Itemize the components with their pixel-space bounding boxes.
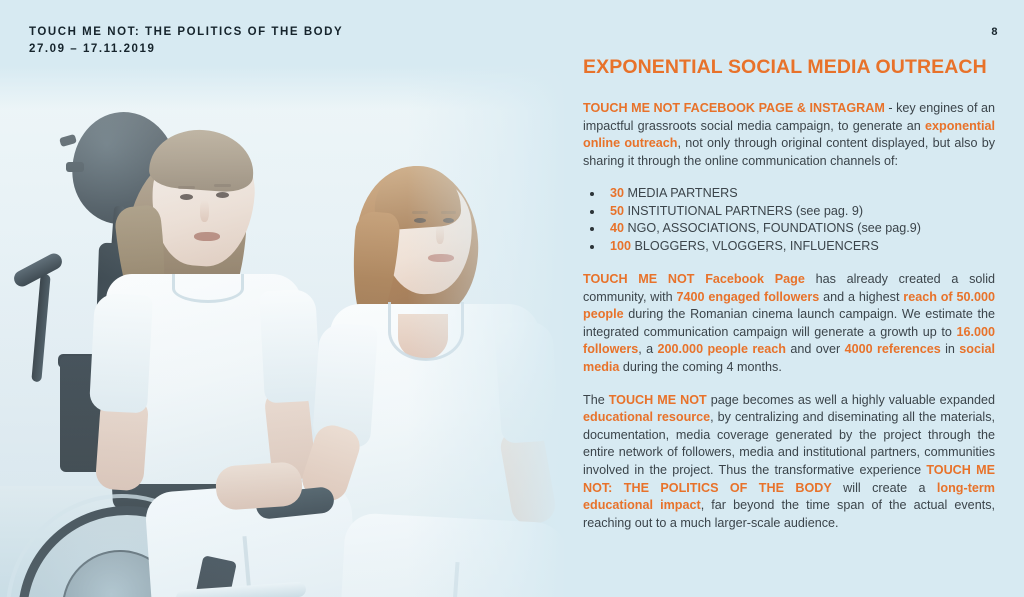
person-woman-sleeve-right [494,320,560,444]
person-seated-eye-right [216,192,229,198]
person-seated-eyebrow-right [214,184,231,187]
community-part6: in [941,342,960,356]
presentation-slide: TOUCH ME NOT: THE POLITICS OF THE BODY 2… [0,0,1024,597]
photo-top-fade [0,66,566,110]
wheelchair-headrest-knob-lower [66,162,84,172]
partner-list: 30 MEDIA PARTNERS 50 INSTITUTIONAL PARTN… [583,185,995,255]
bullet-number: 30 [610,186,624,200]
community-part4: , a [638,342,657,356]
paragraph-intro: TOUCH ME NOT FACEBOOK PAGE & INSTAGRAM -… [583,100,995,170]
educational-highlight-tmn: TOUCH ME NOT [609,393,707,407]
person-woman-eyebrow-left [412,211,428,214]
exhibition-photograph [0,66,566,597]
person-seated-hands [215,461,304,511]
educational-part2: page becomes as well a highly valuable e… [707,393,995,407]
community-part5: and over [786,342,845,356]
bullet-number: 50 [610,204,624,218]
person-seated-sleeve-right [259,289,321,404]
community-lead-rest: Facebook Page [694,272,804,286]
educational-part1: The [583,393,609,407]
person-woman-mouth [428,254,454,262]
person-seated-eyebrow-left [178,186,195,189]
community-highlight-200k: 200.000 people reach [658,342,786,356]
slide-header: TOUCH ME NOT: THE POLITICS OF THE BODY 2… [29,24,343,58]
content-column: EXPONENTIAL SOCIAL MEDIA OUTREACH TOUCH … [583,56,995,547]
bullet-label: INSTITUTIONAL PARTNERS (see pag. 9) [628,204,864,218]
wheelchair-headrest-knob [59,134,77,147]
community-lead-bold: TOUCH ME NOT [583,272,694,286]
wheelchair-push-handle-grip [11,251,64,290]
intro-lead: TOUCH ME NOT FACEBOOK PAGE & INSTAGRAM [583,101,885,115]
person-seated-collar [172,274,244,303]
list-item: 40 NGO, ASSOCIATIONS, FOUNDATIONS (see p… [583,220,995,237]
community-part3: during the Romanian cinema launch campai… [583,307,995,339]
bullet-label: MEDIA PARTNERS [628,186,738,200]
list-item: 30 MEDIA PARTNERS [583,185,995,202]
educational-highlight-resource: educational resource [583,410,710,424]
person-seated-eye-left [180,194,193,200]
bullet-number: 40 [610,221,624,235]
page-number: 8 [991,26,998,38]
bullet-number: 100 [610,239,631,253]
wheelchair-push-handle-bar [31,274,50,382]
person-woman-nose [436,224,444,244]
bullet-label: BLOGGERS, VLOGGERS, INFLUENCERS [635,239,879,253]
person-woman-legs [338,512,566,597]
person-woman-eye-left [414,218,426,223]
paragraph-community: TOUCH ME NOT Facebook Page has already c… [583,271,995,377]
person-woman-neckline [388,302,464,361]
list-item: 100 BLOGGERS, VLOGGERS, INFLUENCERS [583,238,995,255]
educational-part4: will create a [832,481,937,495]
person-seated-sleeve-left [89,293,153,414]
exhibition-dates: 27.09 – 17.11.2019 [29,41,343,58]
person-woman-eyebrow-right [441,211,456,214]
person-seated-mouth [194,232,220,241]
section-title: EXPONENTIAL SOCIAL MEDIA OUTREACH [583,56,995,78]
exhibition-title: TOUCH ME NOT: THE POLITICS OF THE BODY [29,24,343,41]
community-part7: during the coming 4 months. [619,360,781,374]
person-woman-eye-right [443,218,454,223]
person-seated-nose [200,200,209,222]
community-highlight-references: 4000 references [845,342,941,356]
community-part2: and a highest [819,290,903,304]
bullet-label: NGO, ASSOCIATIONS, FOUNDATIONS (see pag.… [628,221,921,235]
community-highlight-followers: 7400 engaged followers [677,290,820,304]
paragraph-educational: The TOUCH ME NOT page becomes as well a … [583,392,995,533]
list-item: 50 INSTITUTIONAL PARTNERS (see pag. 9) [583,203,995,220]
